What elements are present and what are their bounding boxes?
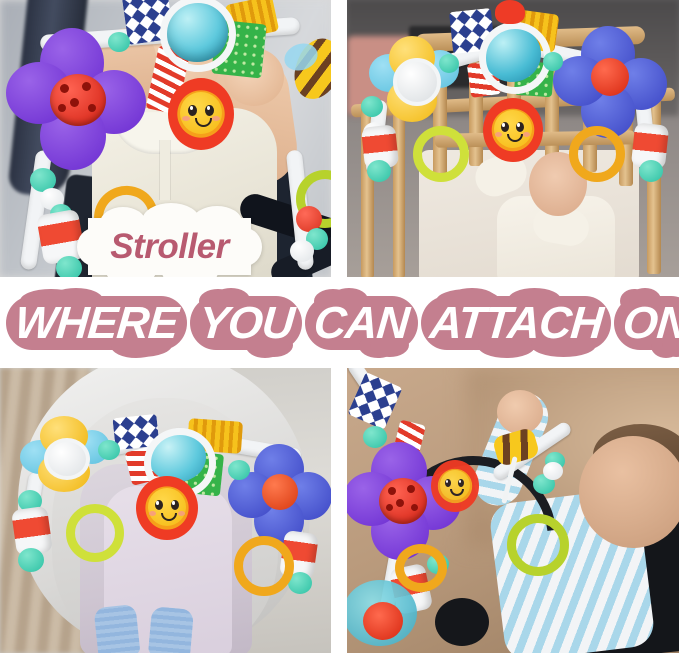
flower-spinner-blue [228,444,331,546]
bouncer-photo [0,368,331,653]
infographic-page: Stroller [0,0,679,653]
ladybug-center [50,74,106,126]
label-text-stroller: Stroller [110,227,229,267]
banner-word-3: CAN [305,296,418,350]
attach-banner: WHERE YOU CAN ATTACH ON [6,294,679,352]
bead-white [290,240,314,262]
ball-rattle-ring [479,22,551,94]
bead-teal [367,160,391,182]
bee-spinner [369,34,457,124]
chair-grip [435,598,489,646]
baby-head [579,436,679,548]
banner-word-text: YOU [196,297,295,349]
banner-word-text: WHERE [13,297,180,349]
banner-word-text: ON [621,297,679,349]
banner-word-text: CAN [312,297,411,349]
panel-baby-crib[interactable]: Baby Crib [347,0,679,277]
bead-teal [18,548,44,572]
panel-baby-chair[interactable]: Baby Chair [347,368,679,653]
bead-teal [108,32,130,52]
sunflower-plush [431,460,479,512]
bead-teal [98,440,120,460]
ring-teether-orange [395,544,447,592]
baby-crib-photo [347,0,679,277]
bee-spinner [20,416,110,494]
panel-stroller[interactable]: Stroller [0,0,331,277]
baby-sock-right [148,606,194,653]
bead-teal [639,160,663,182]
spinner-center-orange [262,474,298,510]
bead-teal [228,460,250,480]
ring-teether-lime [507,514,569,576]
ring-teether-orange [569,126,625,182]
ball-toy-red [363,602,403,640]
banner-word-4: ATTACH [421,296,611,350]
sunflower-plush [168,78,234,150]
baby-hand [497,390,543,434]
ring-teether-lime [66,504,124,562]
panel-bouncer[interactable]: Bouncer [0,368,331,653]
sunflower-plush [483,98,543,162]
ring-teether-orange [234,536,294,596]
bead-white [543,462,563,480]
bead-teal [361,96,383,117]
bead-teal [363,426,387,448]
spinner-center-red [591,58,629,96]
baby-chair-photo [347,368,679,653]
banner-word-text: ATTACH [427,297,604,349]
banner-word-2: YOU [190,296,303,350]
crib-slat [393,102,405,277]
banner-word-1: WHERE [6,296,187,350]
label-badge-stroller: Stroller [88,218,251,275]
flower-spinner-blue [553,26,667,138]
bead-teal [439,54,459,73]
bead-teal [56,256,82,277]
ladybug-center [379,478,427,524]
baby-sock-left [94,604,141,653]
sunflower-plush [136,476,198,540]
bead-teal [543,52,563,71]
banner-word-5: ON [614,296,679,350]
antenna-toy [495,0,525,24]
ring-teether-lime [413,126,469,182]
